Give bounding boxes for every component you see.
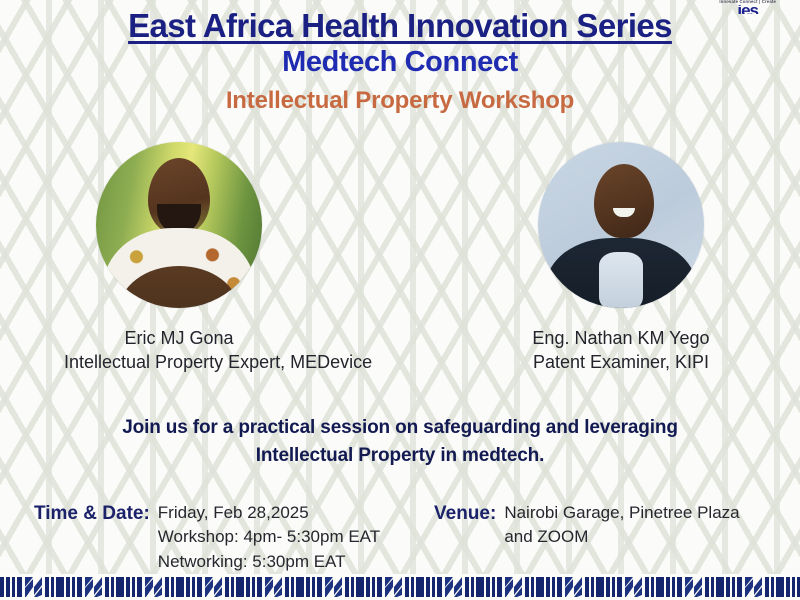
venue-line-2: and ZOOM <box>504 525 739 549</box>
portrait-head-shape <box>594 164 654 238</box>
speaker-role: Patent Examiner, KIPI <box>506 350 736 374</box>
time-and-date-value: Friday, Feb 28,2025 Workshop: 4pm- 5:30p… <box>158 501 380 573</box>
speaker-photo-eric <box>96 142 262 308</box>
speaker-card-2: Eng. Nathan KM Yego Patent Examiner, KIP… <box>506 142 736 375</box>
venue-block: Venue: Nairobi Garage, Pinetree Plaza an… <box>434 501 768 573</box>
poster-content: Innovate Connect | Create ies East Afric… <box>0 0 800 600</box>
networking-time-line: Networking: 5:30pm EAT <box>158 550 380 574</box>
venue-value: Nairobi Garage, Pinetree Plaza and ZOOM <box>504 501 739 549</box>
event-description-line-1: Join us for a practical session on safeg… <box>0 414 800 442</box>
venue-line-1: Nairobi Garage, Pinetree Plaza <box>504 501 739 525</box>
venue-label: Venue: <box>434 501 496 528</box>
event-poster: Innovate Connect | Create ies East Afric… <box>0 0 800 600</box>
logo-tagline: Innovate Connect | Create <box>719 0 776 4</box>
speaker-photo-nathan <box>538 142 704 308</box>
speaker-name: Eric MJ Gona <box>64 326 294 350</box>
speaker-card-1: Eric MJ Gona Intellectual Property Exper… <box>64 142 294 375</box>
time-and-date-block: Time & Date: Friday, Feb 28,2025 Worksho… <box>34 501 434 573</box>
poster-title: East Africa Health Innovation Series <box>0 8 800 44</box>
speaker-name: Eng. Nathan KM Yego <box>506 326 736 350</box>
decorative-bottom-border <box>0 574 800 600</box>
workshop-time-line: Workshop: 4pm- 5:30pm EAT <box>158 525 380 549</box>
poster-event-type: Intellectual Property Workshop <box>0 88 800 114</box>
date-line: Friday, Feb 28,2025 <box>158 501 380 525</box>
kente-border-graphic <box>0 574 800 600</box>
event-details: Time & Date: Friday, Feb 28,2025 Worksho… <box>0 501 800 573</box>
headline-block: East Africa Health Innovation Series Med… <box>0 0 800 115</box>
speaker-role: Intellectual Property Expert, MEDevice <box>64 350 294 374</box>
portrait-collar-shape <box>599 252 643 308</box>
time-and-date-label: Time & Date: <box>34 501 150 528</box>
logo-wordmark: ies <box>719 5 776 14</box>
organization-logo: Innovate Connect | Create ies <box>719 0 776 14</box>
poster-subtitle: Medtech Connect <box>0 47 800 79</box>
event-description: Join us for a practical session on safeg… <box>0 414 800 469</box>
event-description-line-2: Intellectual Property in medtech. <box>0 442 800 470</box>
speakers-row: Eric MJ Gona Intellectual Property Exper… <box>0 142 800 375</box>
